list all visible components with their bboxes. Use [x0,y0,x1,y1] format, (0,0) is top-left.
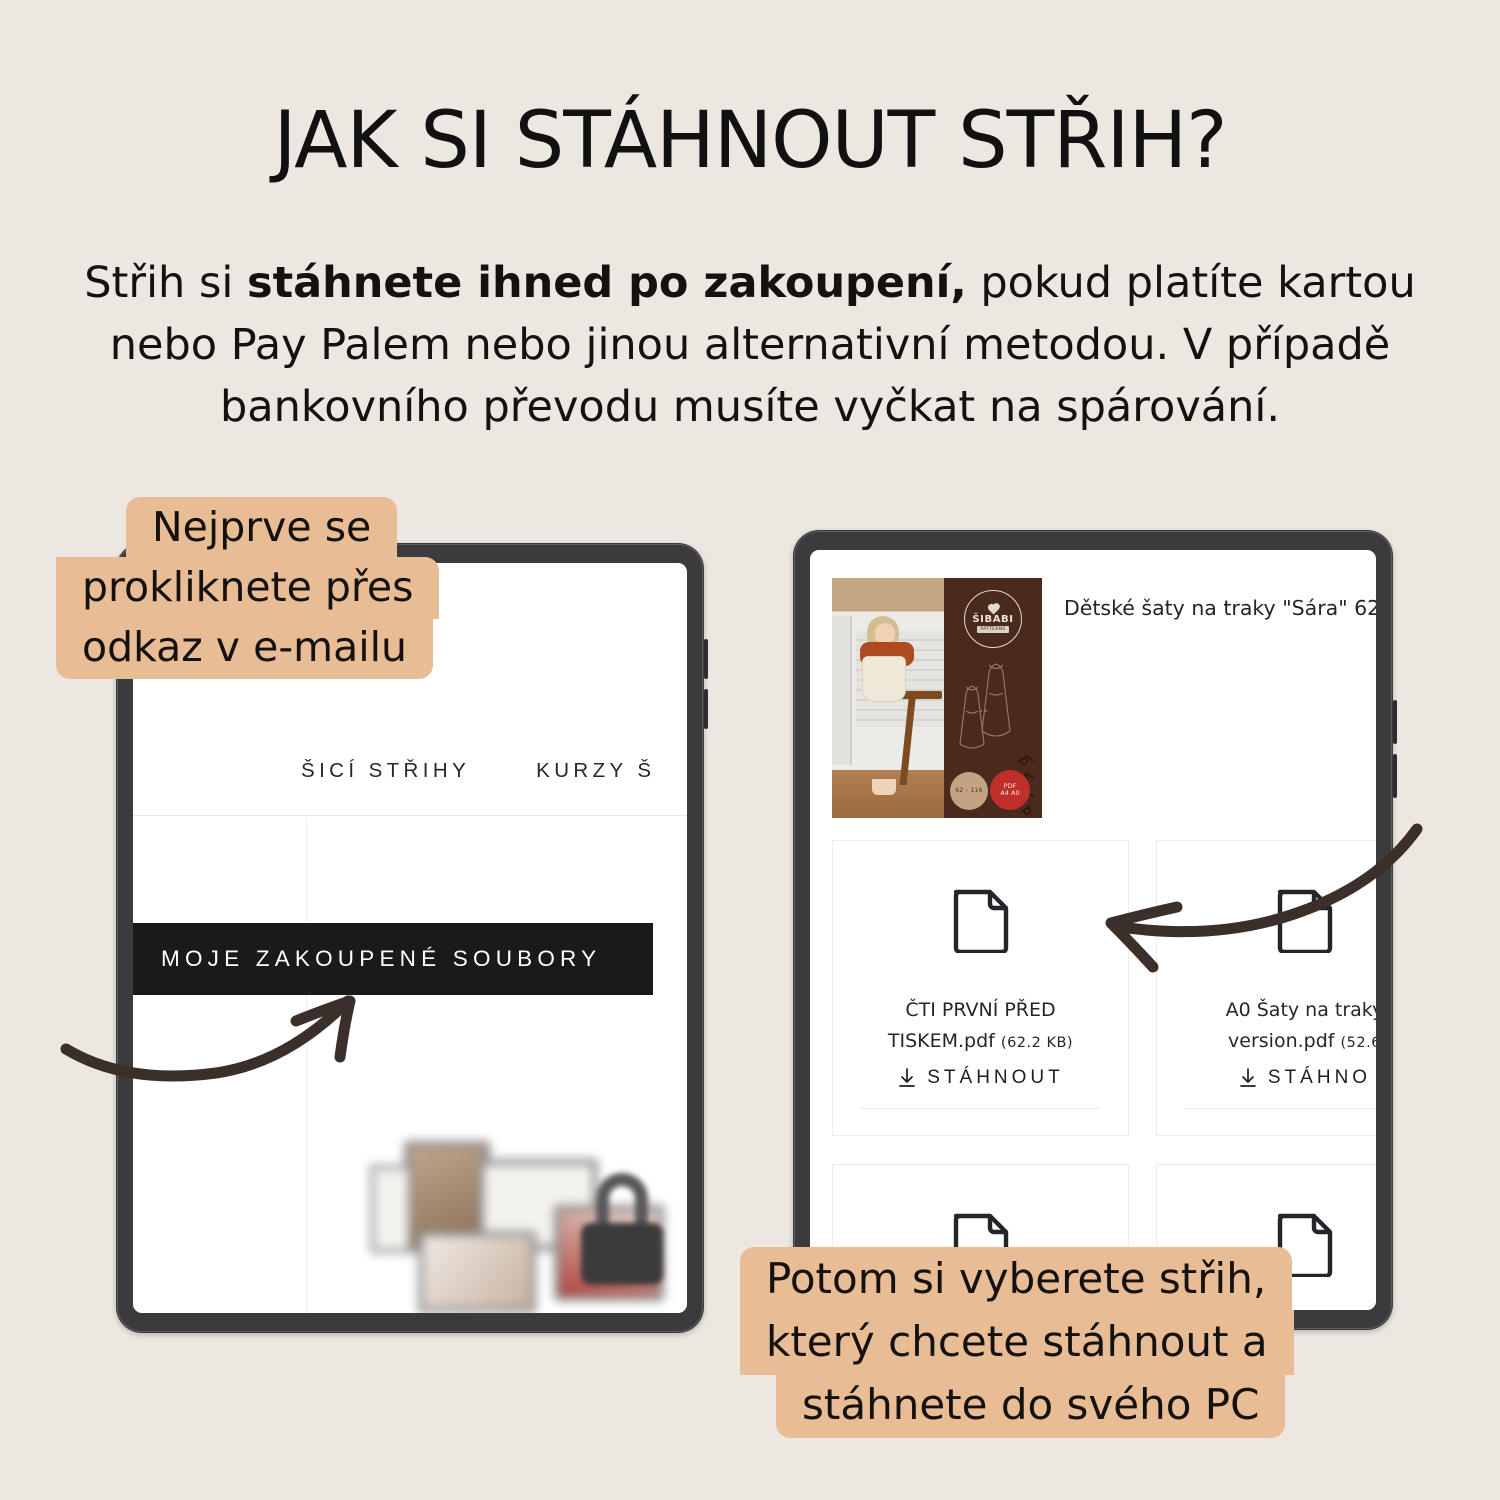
site-navigation: ŠICÍ STŘIHY KURZY Š [133,759,687,783]
volume-up-button[interactable] [704,639,708,679]
size-badge: 62 - 116 [950,772,988,810]
download-button[interactable]: STÁHNOUT [833,1067,1128,1089]
dress-illustration [950,652,1024,762]
callout-right-line2: který chcete stáhnout a [740,1310,1294,1375]
file-name: ČTI PRVNÍ PŘED TISKEM.pdf (62.2 KB) [860,995,1102,1059]
download-icon [1238,1067,1258,1089]
callout-left-line3: odkaz v e-mailu [56,617,433,679]
callout-right-line1: Potom si vyberete střih, [740,1247,1292,1312]
blurred-photo-b [423,1236,531,1308]
brand-subtitle: PATTERNS [977,626,1008,633]
download-button[interactable]: STÁHNO [1157,1067,1376,1089]
file-size: (62.2 KB) [1001,1035,1073,1051]
volume-down-button-right[interactable] [1393,754,1397,798]
volume-up-button-right[interactable] [1393,700,1397,744]
padlock-body [581,1223,663,1285]
download-label: STÁHNO [1268,1067,1371,1089]
file-name-line1: ČTI PRVNÍ PŘED [905,999,1055,1021]
blurred-frame-d [418,1231,536,1313]
nav-item-sici-strihy[interactable]: ŠICÍ STŘIHY [301,759,470,783]
file-name-line2: TISKEM.pdf [888,1030,995,1052]
file-size: (52.6 [1341,1035,1376,1051]
my-purchased-files-label: MOJE ZAKOUPENÉ SOUBORY [161,946,601,972]
intro-text-part1: Střih si [84,258,247,308]
nav-divider [133,815,687,816]
photo-child-legs [872,779,896,795]
card-divider [1184,1108,1376,1109]
product-thumbnail[interactable]: ŠIBABI PATTERNS [832,578,1042,818]
file-name-line2: version.pdf [1228,1030,1334,1052]
format-badge: PDF A4 A0 [990,770,1030,810]
callout-left-line2: prokliknete přes [56,557,439,619]
download-label: STÁHNOUT [927,1067,1064,1089]
product-title: Dětské šaty na traky "Sára" 62 [1064,578,1376,818]
photo-child-dress [862,656,906,702]
brand-logo: ŠIBABI PATTERNS [964,590,1022,648]
callout-right: Potom si vyberete střih, který chcete st… [740,1247,1294,1438]
product-photo [832,578,944,818]
arrow-to-files-banner [60,975,430,1115]
download-icon [897,1067,917,1089]
page-title: JAK SI STÁHNOUT STŘIH? [0,96,1500,186]
brand-name: ŠIBABI [972,614,1013,625]
nav-item-kurzy[interactable]: KURZY Š [536,759,655,783]
product-brand-panel: ŠIBABI PATTERNS [944,578,1042,818]
size-badge-label: 62 - 116 [955,788,982,795]
file-name-line1: A0 Šaty na traky [1226,999,1376,1021]
intro-text-bold: stáhnete ihned po zakoupení, [247,258,967,308]
heart-icon [988,604,998,614]
callout-left-line1: Nejprve se [126,497,397,559]
blurred-frame-b [370,1165,412,1253]
padlock-icon [575,1173,669,1285]
photo-child [854,616,916,789]
callout-left: Nejprve se prokliknete přes odkaz v e-ma… [56,497,439,679]
intro-paragraph: Střih si stáhnete ihned po zakoupení, po… [75,252,1425,438]
file-name: A0 Šaty na traky version.pdf (52.6 [1184,995,1376,1059]
format-badge-line2: A4 A0 [1000,790,1019,797]
arrow-to-file-card [1085,815,1425,995]
photo-fridge [832,616,852,765]
document-icon [951,887,1011,953]
callout-right-line3: stáhnete do svého PC [776,1373,1285,1438]
card-divider [860,1108,1102,1109]
product-header: ŠIBABI PATTERNS [832,578,1376,818]
volume-down-button[interactable] [704,689,708,729]
